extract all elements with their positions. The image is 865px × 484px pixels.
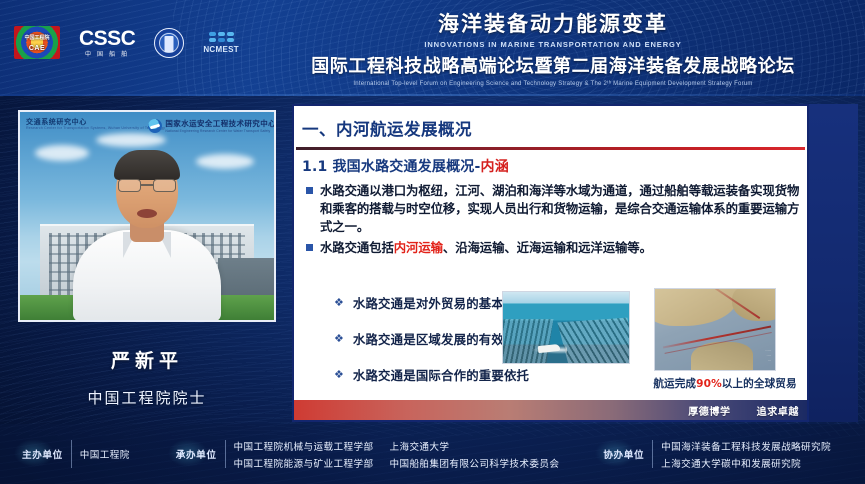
speaker-name: 严新平 bbox=[18, 346, 276, 373]
bullet-seg-highlight: 内河运输 bbox=[394, 240, 443, 255]
speaker-title: 中国工程院院士 bbox=[18, 387, 276, 408]
sponsor-divider bbox=[71, 440, 72, 468]
map-labels: ············ bbox=[765, 349, 771, 364]
sponsor-line: 中国船舶集团有限公司科学技术委员会 bbox=[389, 456, 559, 470]
sponsor-divider bbox=[225, 440, 226, 468]
nerc-logo-icon bbox=[148, 119, 162, 133]
glasses-icon bbox=[118, 179, 176, 192]
speaker-shirt bbox=[73, 230, 221, 322]
sponsor-logo-row: 中国工程院 CAE CSSC 中 国 船 舶 NCMEST bbox=[14, 26, 239, 59]
broadcast-stage: 中国工程院 CAE CSSC 中 国 船 舶 NCMEST 海洋装备动力能源变革… bbox=[0, 0, 865, 484]
video-watermark-right-cn: 国家水运安全工程技术研究中心 bbox=[165, 118, 276, 129]
slide-bullet-text: 水路交通包括内河运输、沿海运输、近海运输和远洋运输等。 bbox=[320, 239, 652, 257]
event-banner: 中国工程院 CAE CSSC 中 国 船 舶 NCMEST 海洋装备动力能源变革… bbox=[0, 0, 865, 96]
port-aerial-photo bbox=[502, 291, 630, 364]
map-caption: 航运完成90%以上的全球贸易 bbox=[650, 376, 800, 391]
map-caption-prefix: 航运完成 bbox=[653, 378, 696, 390]
slide-bullet-list: 水路交通以港口为枢纽，江河、湖泊和海洋等水域为通道，通过船舶等载运装备实现货物和… bbox=[306, 182, 801, 260]
sjtu-seal-glyph bbox=[165, 36, 174, 52]
motto-left: 厚德博学 bbox=[688, 403, 730, 418]
video-watermark-left: 交通系统研究中心 Research Center for Transportat… bbox=[26, 119, 165, 131]
sponsor-line: 中国海洋装备工程科技发展战略研究院 bbox=[661, 439, 831, 453]
bullet-seg-plain-2: 、沿海运输、近海运输和远洋运输等。 bbox=[443, 240, 652, 255]
ncmest-logo-glyph bbox=[203, 32, 239, 42]
sponsor-tag-host: 承办单位 bbox=[176, 447, 217, 461]
motto-right: 追求卓越 bbox=[757, 403, 799, 418]
sponsor-tag-label: 承办单位 bbox=[176, 450, 217, 461]
presentation-slide: 一、内河航运发展概况 1.1 我国水路交通发展概况-内涵 水路交通以港口为枢纽，… bbox=[294, 106, 807, 420]
ncmest-logo: NCMEST bbox=[203, 32, 239, 54]
square-bullet-icon bbox=[306, 187, 313, 194]
sponsor-column: 中国海洋装备工程科技发展战略研究院 上海交通大学碳中和发展研究院 bbox=[661, 439, 831, 470]
sponsor-tag-coorganizer: 协办单位 bbox=[603, 447, 644, 461]
cae-logo-abbr: CAE bbox=[14, 45, 60, 52]
sponsor-bar: 主办单位 中国工程院 承办单位 中国工程院机械与运载工程学部 中国工程院能源与矿… bbox=[0, 424, 865, 484]
speaker-mouth bbox=[137, 209, 157, 218]
sponsor-group-host: 承办单位 中国工程院机械与运载工程学部 中国工程院能源与矿业工程学部 上海交通大… bbox=[176, 439, 560, 470]
cssc-logo-cn: 中 国 船 舶 bbox=[79, 52, 135, 58]
cae-logo-cn: 中国工程院 bbox=[14, 34, 60, 41]
sponsor-group-coorganizer: 协办单位 中国海洋装备工程科技发展战略研究院 上海交通大学碳中和发展研究院 bbox=[603, 439, 831, 470]
slide-diamond-list: ❖ 水路交通是对外贸易的基本支撑 ❖ 水路交通是区域发展的有效载体 ❖ 水路交通… bbox=[334, 294, 529, 402]
video-cloud bbox=[96, 133, 166, 147]
sponsor-line: 中国工程院 bbox=[80, 447, 130, 461]
sponsor-column: 上海交通大学 中国船舶集团有限公司科学技术委员会 bbox=[389, 439, 559, 470]
sponsor-line: 中国工程院能源与矿业工程学部 bbox=[234, 456, 374, 470]
speaker-panel: 交通系统研究中心 Research Center for Transportat… bbox=[18, 110, 276, 408]
banner-main-title-en: INNOVATIONS IN MARINE TRANSPORTATION AND… bbox=[253, 40, 853, 49]
speaker-hair bbox=[114, 150, 180, 180]
banner-main-title: 海洋装备动力能源变革 bbox=[253, 8, 853, 38]
ncmest-logo-abbr: NCMEST bbox=[203, 46, 239, 54]
sjtu-seal-logo bbox=[154, 28, 184, 58]
video-cloud bbox=[196, 154, 254, 169]
diamond-bullet-icon: ❖ bbox=[334, 298, 344, 309]
slide-bullet-item: 水路交通包括内河运输、沿海运输、近海运输和远洋运输等。 bbox=[306, 239, 801, 257]
slide-diamond-text: 水路交通是国际合作的重要依托 bbox=[353, 366, 529, 384]
slide-subtitle: 1.1 我国水路交通发展概况-内涵 bbox=[302, 156, 509, 176]
slide-subtitle-highlight: 内涵 bbox=[481, 159, 509, 175]
slide-diamond-item: ❖ 水路交通是对外贸易的基本支撑 bbox=[334, 294, 529, 312]
slide-bullet-text: 水路交通以港口为枢纽，江河、湖泊和海洋等水域为通道，通过船舶等载运装备实现货物和… bbox=[320, 182, 801, 236]
bullet-seg-plain: 水路交通包括 bbox=[320, 240, 394, 255]
banner-sub-title-en: International Top-level Forum on Enginee… bbox=[253, 81, 853, 87]
map-caption-suffix: 以上的全球贸易 bbox=[722, 378, 797, 390]
slide-title-rule bbox=[296, 147, 805, 150]
slide-footer-motto: 厚德博学 追求卓越 bbox=[688, 403, 799, 418]
global-shipping-map: ············ bbox=[654, 288, 776, 371]
slide-diamond-item: ❖ 水路交通是区域发展的有效载体 bbox=[334, 330, 529, 348]
sponsor-line: 上海交通大学碳中和发展研究院 bbox=[661, 456, 831, 470]
map-caption-highlight: 90% bbox=[696, 378, 722, 390]
sponsor-tag-label: 主办单位 bbox=[22, 450, 63, 461]
sponsor-tag-organizer: 主办单位 bbox=[22, 447, 63, 461]
square-bullet-icon bbox=[306, 244, 313, 251]
cssc-logo: CSSC 中 国 船 舶 bbox=[79, 28, 135, 58]
slide-title: 一、内河航运发展概况 bbox=[302, 116, 472, 140]
cae-logo: 中国工程院 CAE bbox=[14, 26, 60, 59]
video-watermark-right-en: National Engineering Research Center for… bbox=[165, 129, 276, 133]
sponsor-column: 中国工程院机械与运载工程学部 中国工程院能源与矿业工程学部 bbox=[234, 439, 374, 470]
slide-diamond-item: ❖ 水路交通是国际合作的重要依托 bbox=[334, 366, 529, 384]
sponsor-column: 中国工程院 bbox=[80, 447, 130, 461]
slide-bullet-item: 水路交通以港口为枢纽，江河、湖泊和海洋等水域为通道，通过船舶等载运装备实现货物和… bbox=[306, 182, 801, 236]
sponsor-divider bbox=[652, 440, 653, 468]
presentation-slide-container[interactable]: 一、内河航运发展概况 1.1 我国水路交通发展概况-内涵 水路交通以港口为枢纽，… bbox=[292, 104, 858, 422]
video-watermark-right: 国家水运安全工程技术研究中心 National Engineering Rese… bbox=[148, 118, 276, 133]
video-watermark-left-cn: 交通系统研究中心 bbox=[26, 119, 165, 126]
sponsor-line: 中国工程院机械与运载工程学部 bbox=[234, 439, 374, 453]
cssc-logo-abbr: CSSC bbox=[79, 28, 135, 49]
banner-sub-title: 国际工程科技战略高端论坛暨第二届海洋装备发展战略论坛 bbox=[253, 52, 853, 78]
speaker-video-feed[interactable]: 交通系统研究中心 Research Center for Transportat… bbox=[18, 110, 276, 322]
banner-title-block: 海洋装备动力能源变革 INNOVATIONS IN MARINE TRANSPO… bbox=[253, 8, 853, 96]
sponsor-tag-label: 协办单位 bbox=[603, 450, 644, 461]
diamond-bullet-icon: ❖ bbox=[334, 370, 344, 381]
video-watermark-left-en: Research Center for Transportation Syste… bbox=[26, 127, 165, 131]
banner-place-date: 中国 · 上海 Shanghai · China 2022/8.26-8.27 bbox=[253, 94, 853, 96]
slide-subtitle-prefix: 1.1 我国水路交通发展概况- bbox=[302, 159, 481, 175]
slide-footer-bar: 厚德博学 追求卓越 bbox=[294, 400, 807, 420]
diamond-bullet-icon: ❖ bbox=[334, 334, 344, 345]
slide-right-band bbox=[809, 104, 858, 422]
sponsor-line: 上海交通大学 bbox=[389, 439, 559, 453]
sponsor-group-organizer: 主办单位 中国工程院 bbox=[22, 440, 130, 468]
